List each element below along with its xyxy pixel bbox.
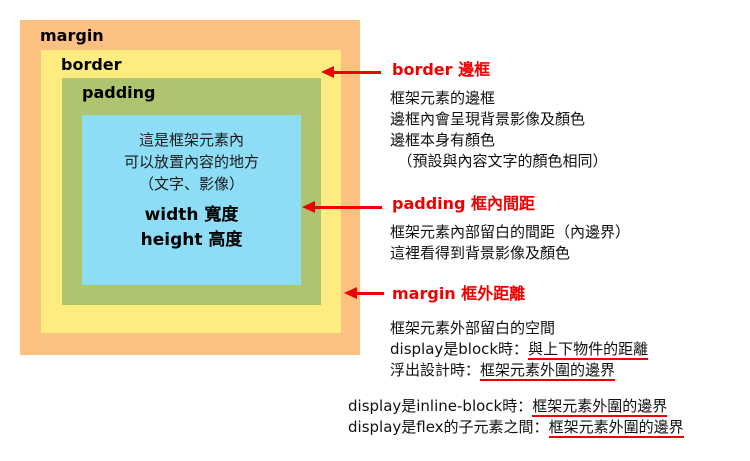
border-body-line-4: （預設與內容文字的顏色相同）	[390, 151, 608, 172]
margin-section-body: 框架元素外部留白的空間 display是block時：與上下物件的距離 浮出設計…	[390, 318, 648, 381]
margin-section-heading: margin 框外距離	[392, 286, 525, 302]
margin-line3-prefix: 浮出設計時：	[390, 361, 480, 379]
margin-line2-prefix: display是block時：	[390, 340, 528, 358]
margin-body-line-5: display是flex的子元素之間：框架元素外圍的邊界	[348, 417, 684, 438]
padding-section-heading: padding 框內間距	[392, 196, 535, 212]
padding-body-line-2: 這裡看得到背景影像及顏色	[390, 243, 630, 264]
margin-section-extra-body: display是inline-block時：框架元素外圍的邊界 display是…	[348, 396, 684, 438]
margin-body-line-3: 浮出設計時：框架元素外圍的邊界	[390, 360, 648, 381]
margin-body-line-4: display是inline-block時：框架元素外圍的邊界	[348, 396, 684, 417]
border-section-body: 框架元素的邊框 邊框內會呈現背景影像及顏色 邊框本身有顏色 （預設與內容文字的顏…	[390, 88, 608, 172]
margin-line3-emphasis: 框架元素外圍的邊界	[480, 361, 615, 381]
margin-body-line-2: display是block時：與上下物件的距離	[390, 339, 648, 360]
border-body-line-2: 邊框內會呈現背景影像及顏色	[390, 109, 608, 130]
border-body-line-1: 框架元素的邊框	[390, 88, 608, 109]
padding-body-line-1: 框架元素內部留白的間距（內邊界）	[390, 222, 630, 243]
padding-section-body: 框架元素內部留白的間距（內邊界） 這裡看得到背景影像及顏色	[390, 222, 630, 264]
margin-line5-emphasis: 框架元素外圍的邊界	[549, 418, 684, 438]
margin-body-line-1: 框架元素外部留白的空間	[390, 318, 648, 339]
annotation-text-panel: border 邊框 框架元素的邊框 邊框內會呈現背景影像及顏色 邊框本身有顏色 …	[0, 0, 750, 461]
margin-line5-prefix: display是flex的子元素之間：	[348, 418, 549, 436]
margin-line2-emphasis: 與上下物件的距離	[528, 340, 648, 360]
border-section-heading: border 邊框	[392, 62, 490, 78]
margin-line4-prefix: display是inline-block時：	[348, 397, 532, 415]
margin-line4-emphasis: 框架元素外圍的邊界	[532, 397, 667, 417]
border-body-line-3: 邊框本身有顏色	[390, 130, 608, 151]
